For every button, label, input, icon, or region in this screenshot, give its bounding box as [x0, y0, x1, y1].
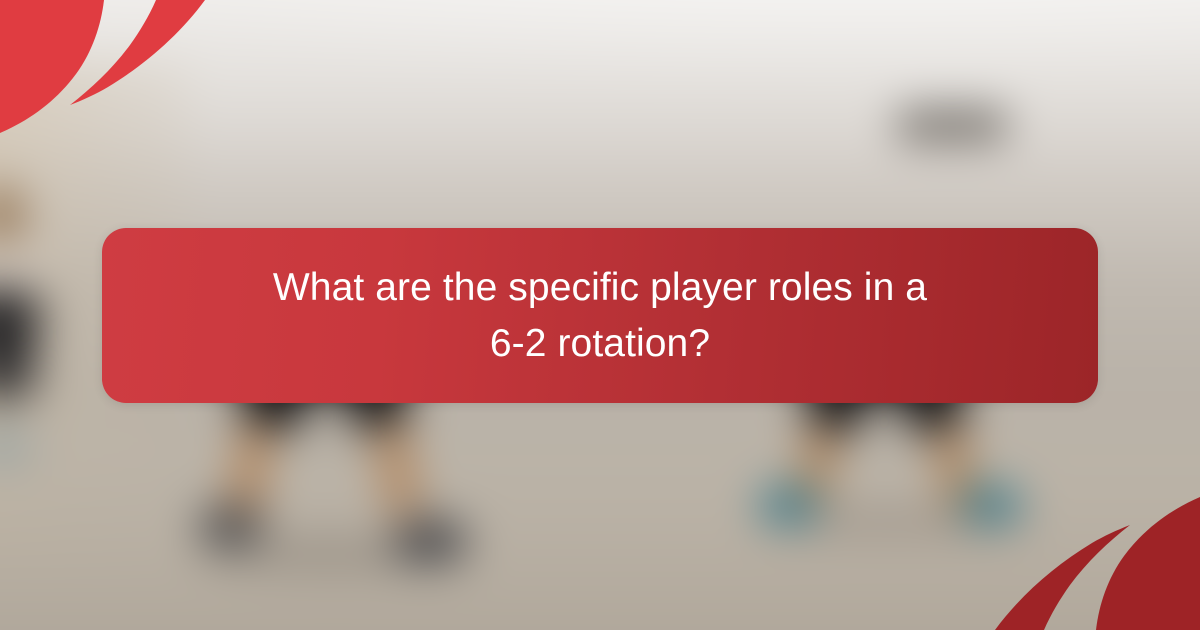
player-right-shoe-left	[758, 485, 820, 525]
question-text: What are the specific player roles in a …	[230, 260, 970, 371]
player-right-shoe-right	[960, 485, 1022, 525]
question-card: What are the specific player roles in a …	[0, 0, 1200, 630]
player-center-shoe-left	[198, 505, 264, 547]
question-banner: What are the specific player roles in a …	[102, 228, 1098, 403]
player-center-shoe-right	[392, 518, 468, 564]
wall-vent	[898, 110, 1006, 140]
player-left-legs	[0, 340, 36, 398]
